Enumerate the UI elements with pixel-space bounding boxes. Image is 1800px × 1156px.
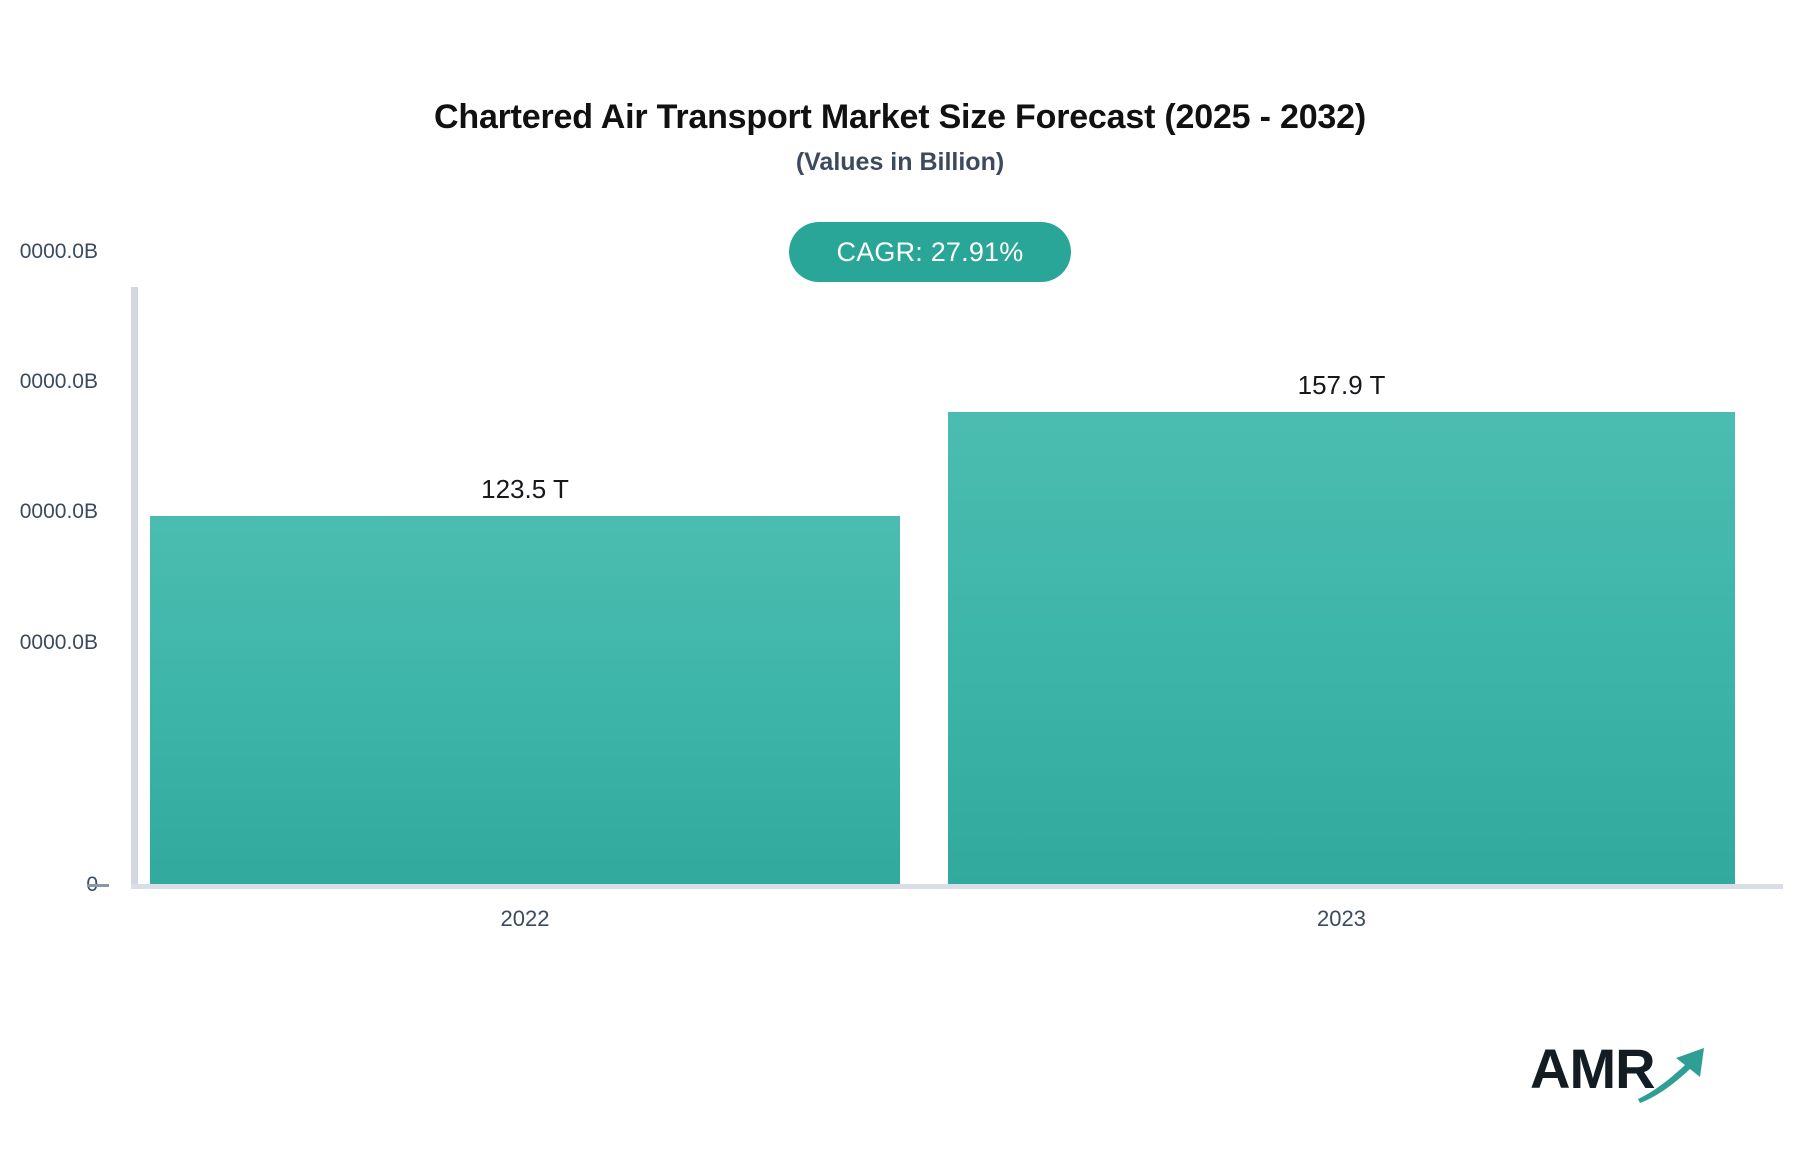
y-tick-dash: [87, 884, 109, 887]
y-tick-label: 0000.0B: [0, 631, 98, 655]
y-axis-line: [131, 287, 138, 885]
amr-logo-text: AMR: [1530, 1036, 1655, 1101]
amr-logo: AMR: [1530, 1040, 1730, 1116]
y-tick-label: 0000.0B: [0, 500, 98, 524]
y-tick-label-zero: 0: [0, 873, 98, 897]
x-tick-label-2022: 2022: [150, 906, 900, 932]
bar-2023: [948, 412, 1735, 884]
x-axis-line: [131, 884, 1783, 889]
growth-arrow-icon: [1638, 1046, 1730, 1113]
x-tick-label-2023: 2023: [948, 906, 1735, 932]
bar-value-2023: 157.9 T: [948, 370, 1735, 401]
y-tick-label: 0000.0B: [0, 370, 98, 394]
y-tick-label: 0000.0B: [0, 240, 98, 264]
plot-area: 0000.0B 0000.0B 0000.0B 0000.0B 0 123.5 …: [0, 0, 1800, 1156]
chart-canvas: Chartered Air Transport Market Size Fore…: [0, 0, 1800, 1156]
bar-value-2022: 123.5 T: [150, 474, 900, 505]
bar-2022: [150, 516, 900, 884]
